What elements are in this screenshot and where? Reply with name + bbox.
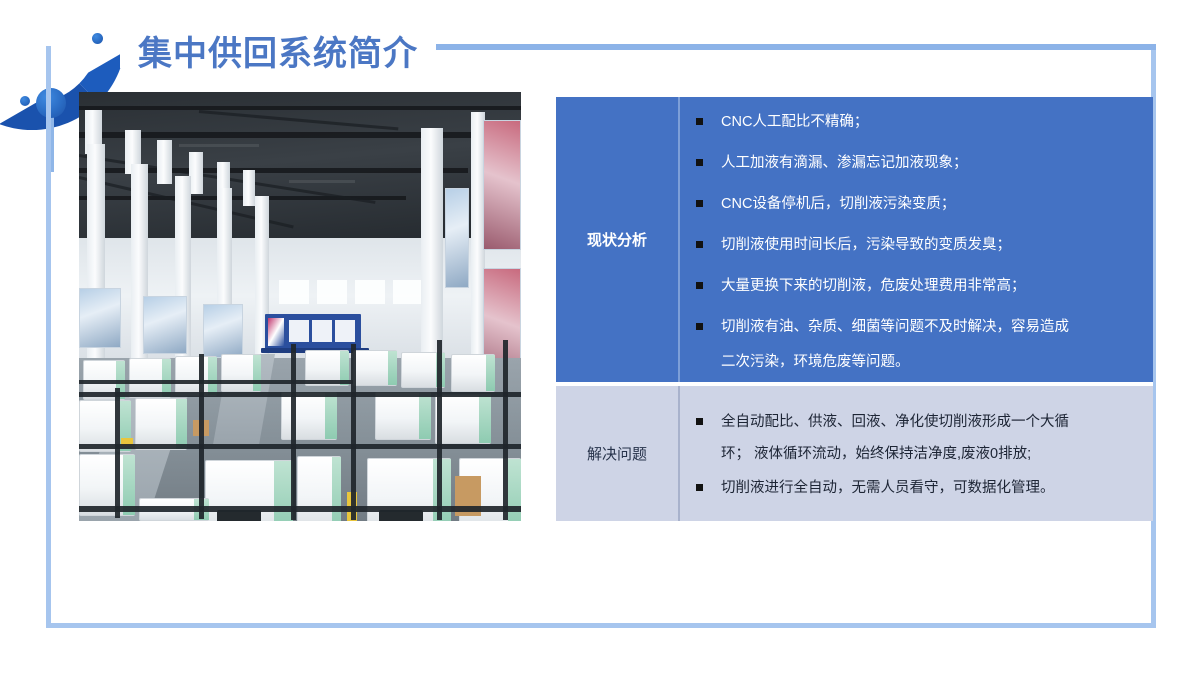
list-item-text: 切削液有油、杂质、细菌等问题不及时解决，容易造成二次污染，环境危废等问题。 bbox=[721, 316, 1139, 373]
row-label-current-analysis: 现状分析 bbox=[556, 97, 678, 382]
photo-display-board bbox=[265, 314, 361, 350]
list-item: 切削液使用时间长后，污染导致的变质发臭； bbox=[696, 234, 1139, 256]
pipe-railing-post bbox=[351, 344, 356, 520]
table-row-solution: 解决问题 全自动配比、供液、回液、净化使切削液形成一个大循环； 液体循环流动，始… bbox=[556, 386, 1153, 521]
pipe-railing bbox=[79, 380, 353, 384]
decorative-dot-small bbox=[92, 33, 103, 44]
photo-board-panel bbox=[289, 320, 309, 342]
photo-hanging-duct bbox=[243, 170, 255, 206]
list-item: CNC人工配比不精确； bbox=[696, 111, 1139, 133]
photo-wall-poster bbox=[143, 296, 187, 354]
photo-hanging-duct bbox=[189, 152, 203, 194]
square-bullet-icon bbox=[696, 418, 703, 425]
photo-board-panel bbox=[335, 320, 355, 342]
photo-wall-poster bbox=[203, 304, 243, 358]
list-item: 切削液有油、杂质、细菌等问题不及时解决，容易造成二次污染，环境危废等问题。 bbox=[696, 316, 1139, 373]
square-bullet-icon bbox=[696, 282, 703, 289]
pipe-railing bbox=[79, 444, 521, 449]
list-item-text: 大量更换下来的切削液，危废处理费用非常高； bbox=[721, 275, 1139, 297]
photo-wall-poster bbox=[445, 188, 469, 288]
photo-wall-poster bbox=[483, 120, 521, 250]
cnc-machine bbox=[175, 356, 217, 396]
row-label-solution: 解决问题 bbox=[556, 386, 678, 521]
title-accent-line bbox=[432, 44, 1156, 50]
pipe-railing bbox=[79, 392, 521, 397]
pipe-railing-post bbox=[503, 340, 508, 520]
page-title: 集中供回系统简介 bbox=[138, 32, 418, 76]
cnc-machine bbox=[135, 398, 187, 450]
pipe-railing-post bbox=[437, 340, 442, 520]
cnc-machine bbox=[375, 392, 431, 440]
list-item-text: 全自动配比、供液、回液、净化使切削液形成一个大循环； 液体循环流动，始终保持洁净… bbox=[721, 411, 1139, 465]
square-bullet-icon bbox=[696, 323, 703, 330]
decorative-dot-tiny bbox=[20, 96, 30, 106]
list-item-text: CNC人工配比不精确； bbox=[721, 111, 1139, 133]
list-item-text: 人工加液有滴漏、渗漏忘记加液现象； bbox=[721, 152, 1139, 174]
list-item-text: 切削液使用时间长后，污染导致的变质发臭； bbox=[721, 234, 1139, 256]
square-bullet-icon bbox=[696, 200, 703, 207]
cnc-machine bbox=[221, 354, 261, 392]
cnc-machine bbox=[435, 394, 491, 444]
photo-window bbox=[317, 280, 347, 304]
photo-ceiling-fan bbox=[179, 144, 259, 147]
pipe-railing-post bbox=[199, 354, 204, 519]
list-item-text: 切削液进行全自动，无需人员看守，可数据化管理。 bbox=[721, 477, 1139, 499]
photo-board-logo bbox=[268, 318, 284, 346]
photo-hanging-duct bbox=[157, 140, 172, 184]
list-item: 全自动配比、供液、回液、净化使切削液形成一个大循环； 液体循环流动，始终保持洁净… bbox=[696, 411, 1139, 465]
square-bullet-icon bbox=[696, 118, 703, 125]
photo-window bbox=[393, 280, 423, 304]
factory-workshop-photo bbox=[79, 92, 521, 521]
table-row-current-analysis: 现状分析 CNC人工配比不精确； 人工加液有滴漏、渗漏忘记加液现象； CNC设备… bbox=[556, 97, 1153, 382]
cnc-machine bbox=[451, 354, 495, 392]
list-item: 大量更换下来的切削液，危废处理费用非常高； bbox=[696, 275, 1139, 297]
photo-truss bbox=[79, 132, 521, 138]
photo-window bbox=[355, 280, 385, 304]
square-bullet-icon bbox=[696, 241, 703, 248]
list-item: 人工加液有滴漏、渗漏忘记加液现象； bbox=[696, 152, 1139, 174]
info-table: 现状分析 CNC人工配比不精确； 人工加液有滴漏、渗漏忘记加液现象； CNC设备… bbox=[556, 97, 1153, 521]
photo-wall-poster bbox=[79, 288, 121, 348]
list-item: CNC设备停机后，切削液污染变质； bbox=[696, 193, 1139, 215]
list-item: 切削液进行全自动，无需人员看守，可数据化管理。 bbox=[696, 477, 1139, 499]
row-body-current-analysis: CNC人工配比不精确； 人工加液有滴漏、渗漏忘记加液现象； CNC设备停机后，切… bbox=[678, 97, 1153, 382]
square-bullet-icon bbox=[696, 484, 703, 491]
pipe-railing-post bbox=[115, 388, 120, 518]
list-item-text: CNC设备停机后，切削液污染变质； bbox=[721, 193, 1139, 215]
photo-ceiling-fan bbox=[289, 180, 355, 183]
slide-canvas: 集中供回系统简介 bbox=[0, 0, 1200, 675]
photo-board-panel bbox=[312, 320, 332, 342]
cnc-machine bbox=[353, 350, 397, 386]
photo-window bbox=[279, 280, 309, 304]
pipe-railing-post bbox=[291, 344, 296, 520]
photo-truss bbox=[79, 106, 521, 110]
cnc-machine bbox=[281, 392, 337, 440]
row-body-solution: 全自动配比、供液、回液、净化使切削液形成一个大循环； 液体循环流动，始终保持洁净… bbox=[678, 386, 1153, 521]
square-bullet-icon bbox=[696, 159, 703, 166]
pipe-railing bbox=[79, 506, 521, 512]
